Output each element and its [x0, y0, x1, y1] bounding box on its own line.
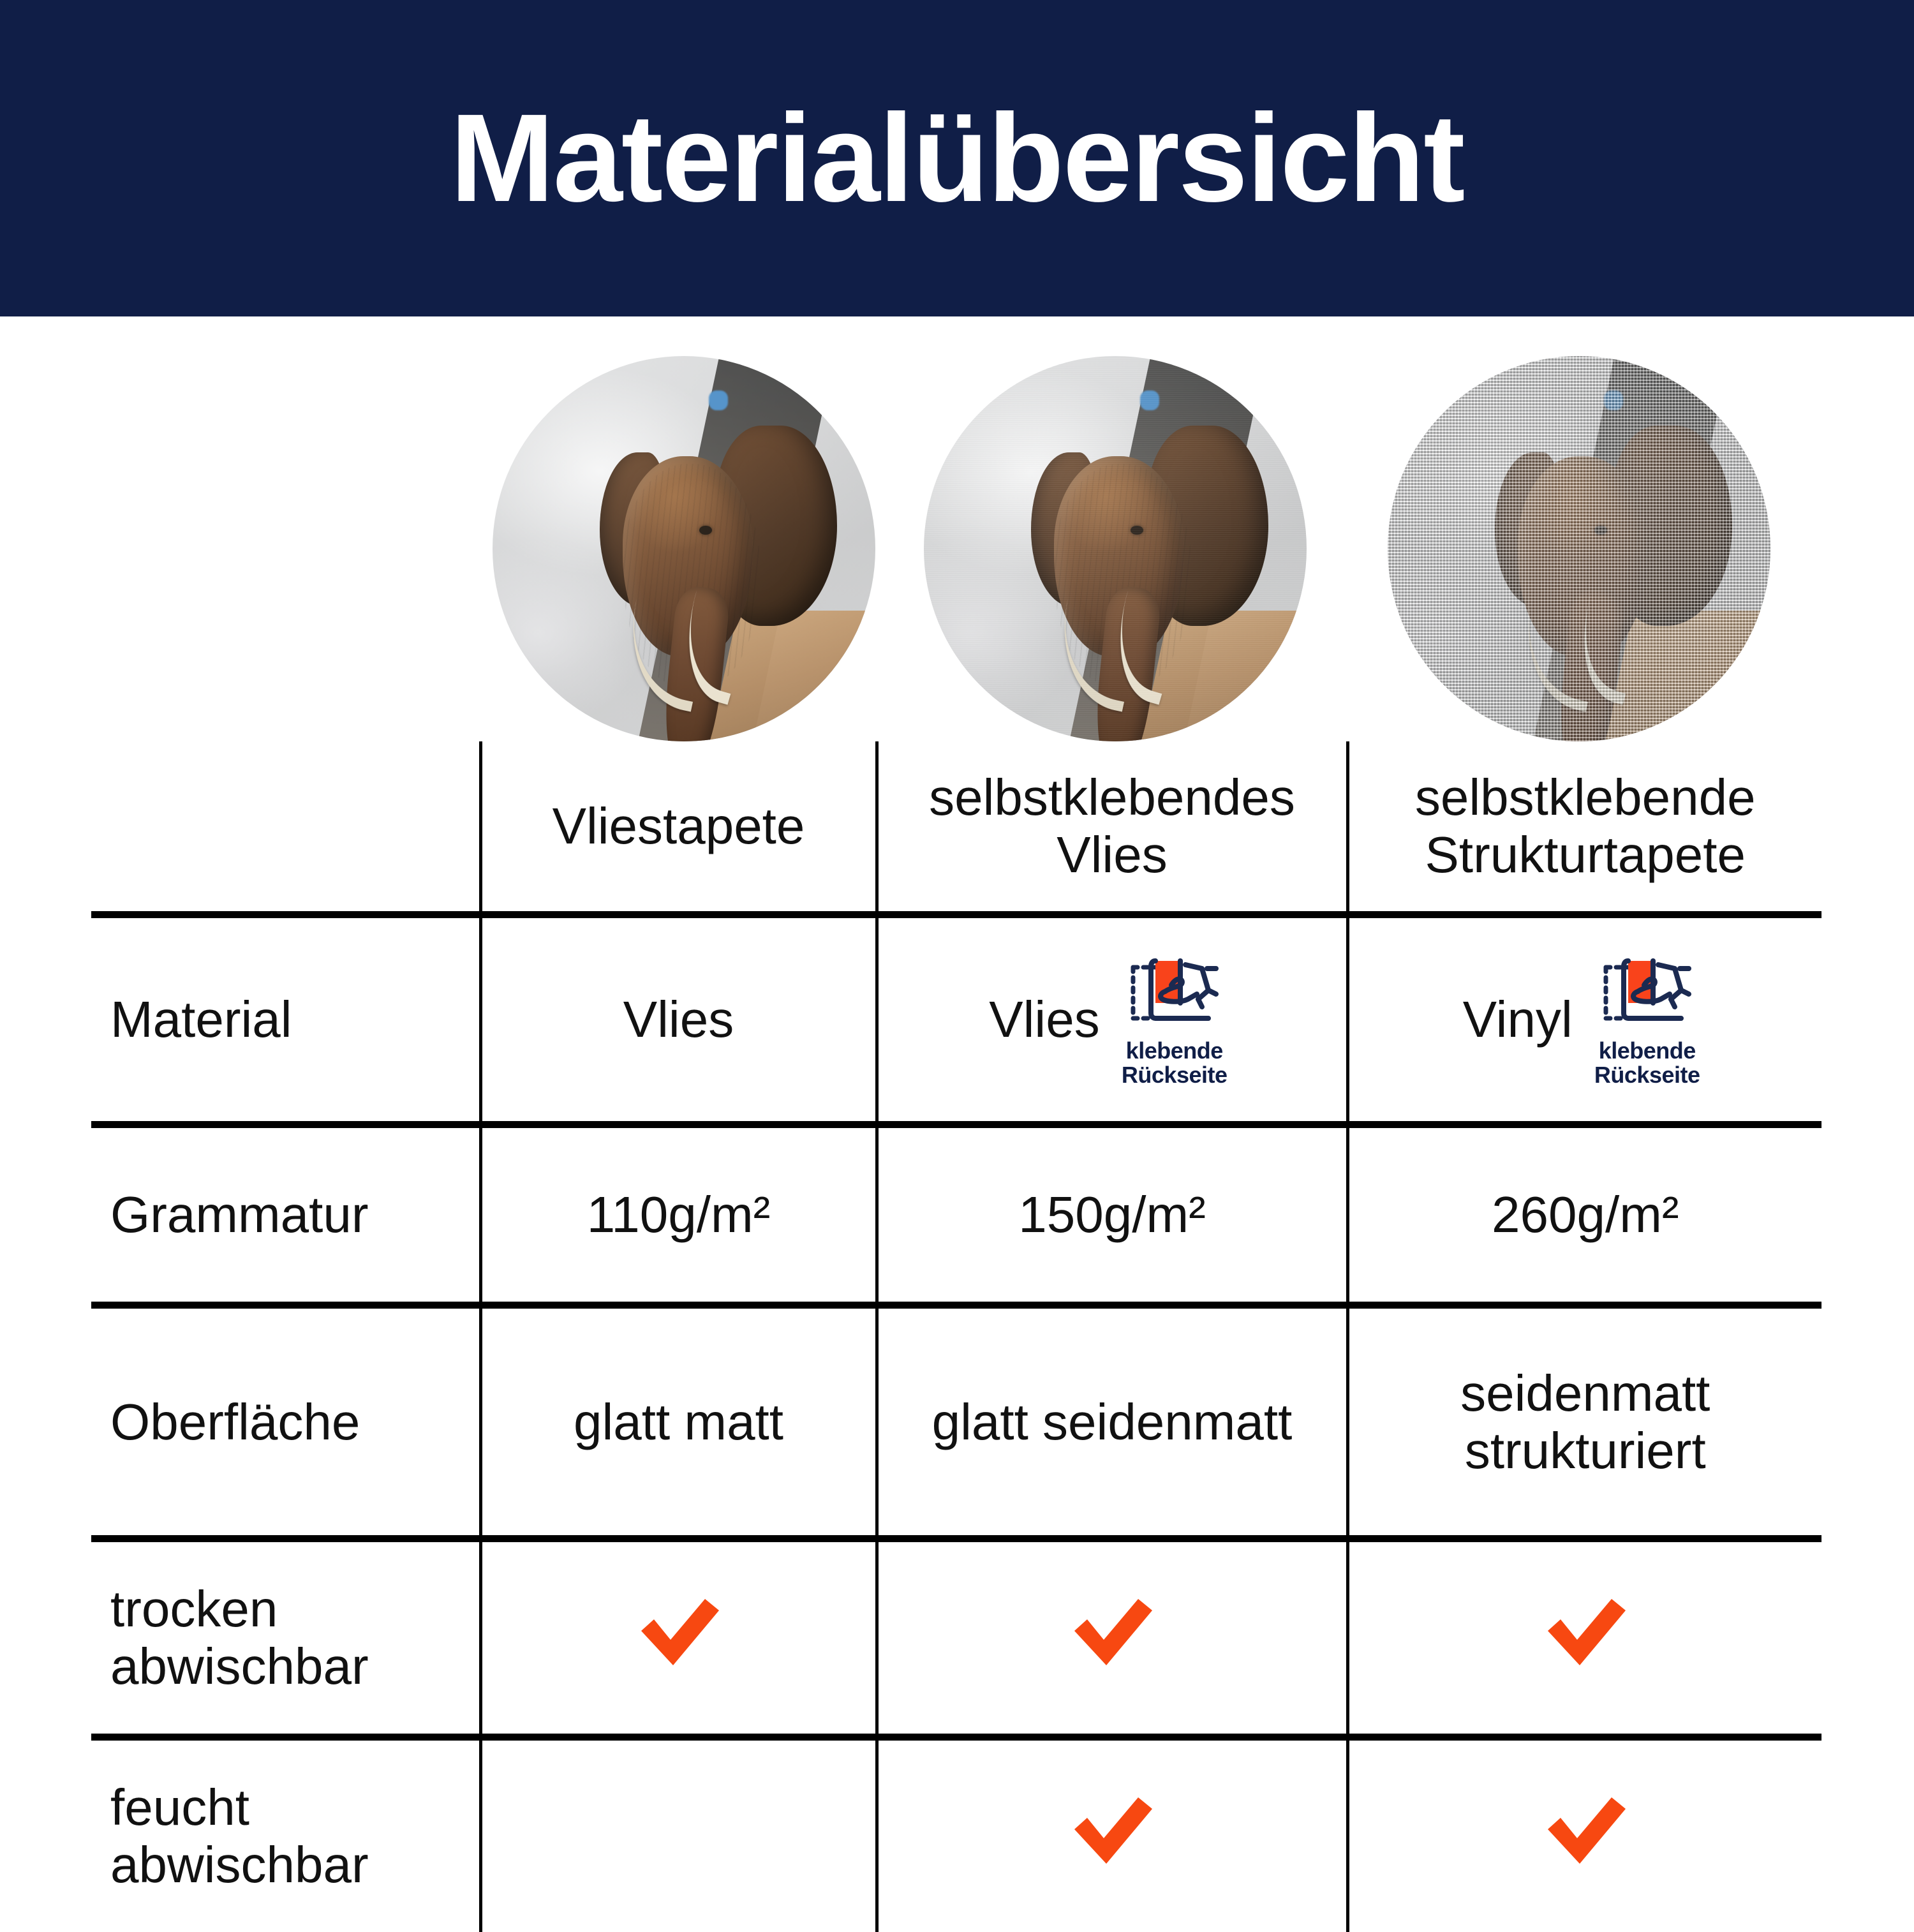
row-label-trocken-abwischbar: trocken abwischbar: [91, 1539, 480, 1737]
cell-grammatur-vliestapete: 110g/m²: [480, 1125, 877, 1305]
row-label-oberflaeche: Oberfläche: [91, 1305, 480, 1539]
cell-trocken-selbstklebendes-vlies: [877, 1539, 1347, 1737]
checkmark-icon: [1538, 1792, 1633, 1869]
sky-patch: [1604, 390, 1623, 410]
table-row-oberflaeche: Oberfläche glatt matt glatt seidenmatt s…: [91, 1305, 1821, 1539]
page-title: Materialübersicht: [450, 96, 1464, 221]
elephant-image-2: [924, 356, 1307, 741]
adhesive-backing-badge: klebende Rückseite: [1114, 952, 1235, 1087]
checkmark-icon: [1064, 1792, 1160, 1869]
material-preview-row: [0, 356, 1914, 741]
elephant-image-3: [1388, 356, 1770, 741]
cell-trocken-strukturtapete: [1347, 1539, 1821, 1737]
cell-oberflaeche-strukturtapete: seidenmatt strukturiert: [1347, 1305, 1821, 1539]
checkmark-icon: [631, 1594, 727, 1670]
header-cell-selbstklebendes-vlies: selbstklebendes Vlies: [877, 741, 1347, 915]
cell-oberflaeche-vliestapete: glatt matt: [480, 1305, 877, 1539]
row-label-material: Material: [91, 915, 480, 1125]
thumbnail-selbstklebendes-vlies[interactable]: [924, 356, 1307, 741]
checkmark-icon: [1538, 1594, 1633, 1670]
elephant-image-1: [493, 356, 875, 741]
header-cell-selbstklebende-strukturtapete: selbstklebende Strukturtapete: [1347, 741, 1821, 915]
material-comparison-table: Vliestapete selbstklebendes Vlies selbst…: [91, 741, 1821, 1932]
table-header-row: Vliestapete selbstklebendes Vlies selbst…: [91, 741, 1821, 915]
cell-material-vliestapete: Vlies: [480, 915, 877, 1125]
table-row-trocken-abwischbar: trocken abwischbar: [91, 1539, 1821, 1737]
badge-line-1: klebende: [1599, 1037, 1696, 1064]
cell-trocken-vliestapete: [480, 1539, 877, 1737]
sky-patch: [1140, 390, 1159, 410]
peel-off-adhesive-backing-icon: [1127, 952, 1222, 1034]
header-cell-vliestapete: Vliestapete: [480, 741, 877, 915]
thumbnail-selbstklebende-strukturtapete[interactable]: [1388, 356, 1770, 741]
badge-line-2: Rückseite: [1594, 1062, 1700, 1088]
cell-oberflaeche-selbstklebendes-vlies: glatt seidenmatt: [877, 1305, 1347, 1539]
table-row-feucht-abwischbar: feucht abwischbar: [91, 1737, 1821, 1932]
cell-grammatur-strukturtapete: 260g/m²: [1347, 1125, 1821, 1305]
cell-material-selbstklebendes-vlies: Vlies: [877, 915, 1347, 1125]
thumbnail-vliestapete[interactable]: [493, 356, 875, 741]
cell-feucht-vliestapete: [480, 1737, 877, 1932]
cell-value: Vlies: [623, 991, 734, 1048]
cell-feucht-selbstklebendes-vlies: [877, 1737, 1347, 1932]
adhesive-backing-badge: klebende Rückseite: [1587, 952, 1708, 1087]
cell-value: Vlies: [989, 991, 1099, 1048]
row-label-feucht-abwischbar: feucht abwischbar: [91, 1737, 480, 1932]
checkmark-icon: [1064, 1594, 1160, 1670]
page-header-banner: Materialübersicht: [0, 0, 1914, 316]
table-row-material: Material Vlies Vlies: [91, 915, 1821, 1125]
row-label-grammatur: Grammatur: [91, 1125, 480, 1305]
badge-line-2: Rückseite: [1122, 1062, 1228, 1088]
cell-material-strukturtapete: Vinyl: [1347, 915, 1821, 1125]
table-row-grammatur: Grammatur 110g/m² 150g/m² 260g/m²: [91, 1125, 1821, 1305]
sky-patch: [709, 390, 728, 410]
cell-grammatur-selbstklebendes-vlies: 150g/m²: [877, 1125, 1347, 1305]
cell-value: Vinyl: [1463, 991, 1573, 1048]
peel-off-adhesive-backing-icon: [1599, 952, 1695, 1034]
badge-line-1: klebende: [1126, 1037, 1223, 1064]
cell-feucht-strukturtapete: [1347, 1737, 1821, 1932]
header-cell-empty: [91, 741, 480, 915]
